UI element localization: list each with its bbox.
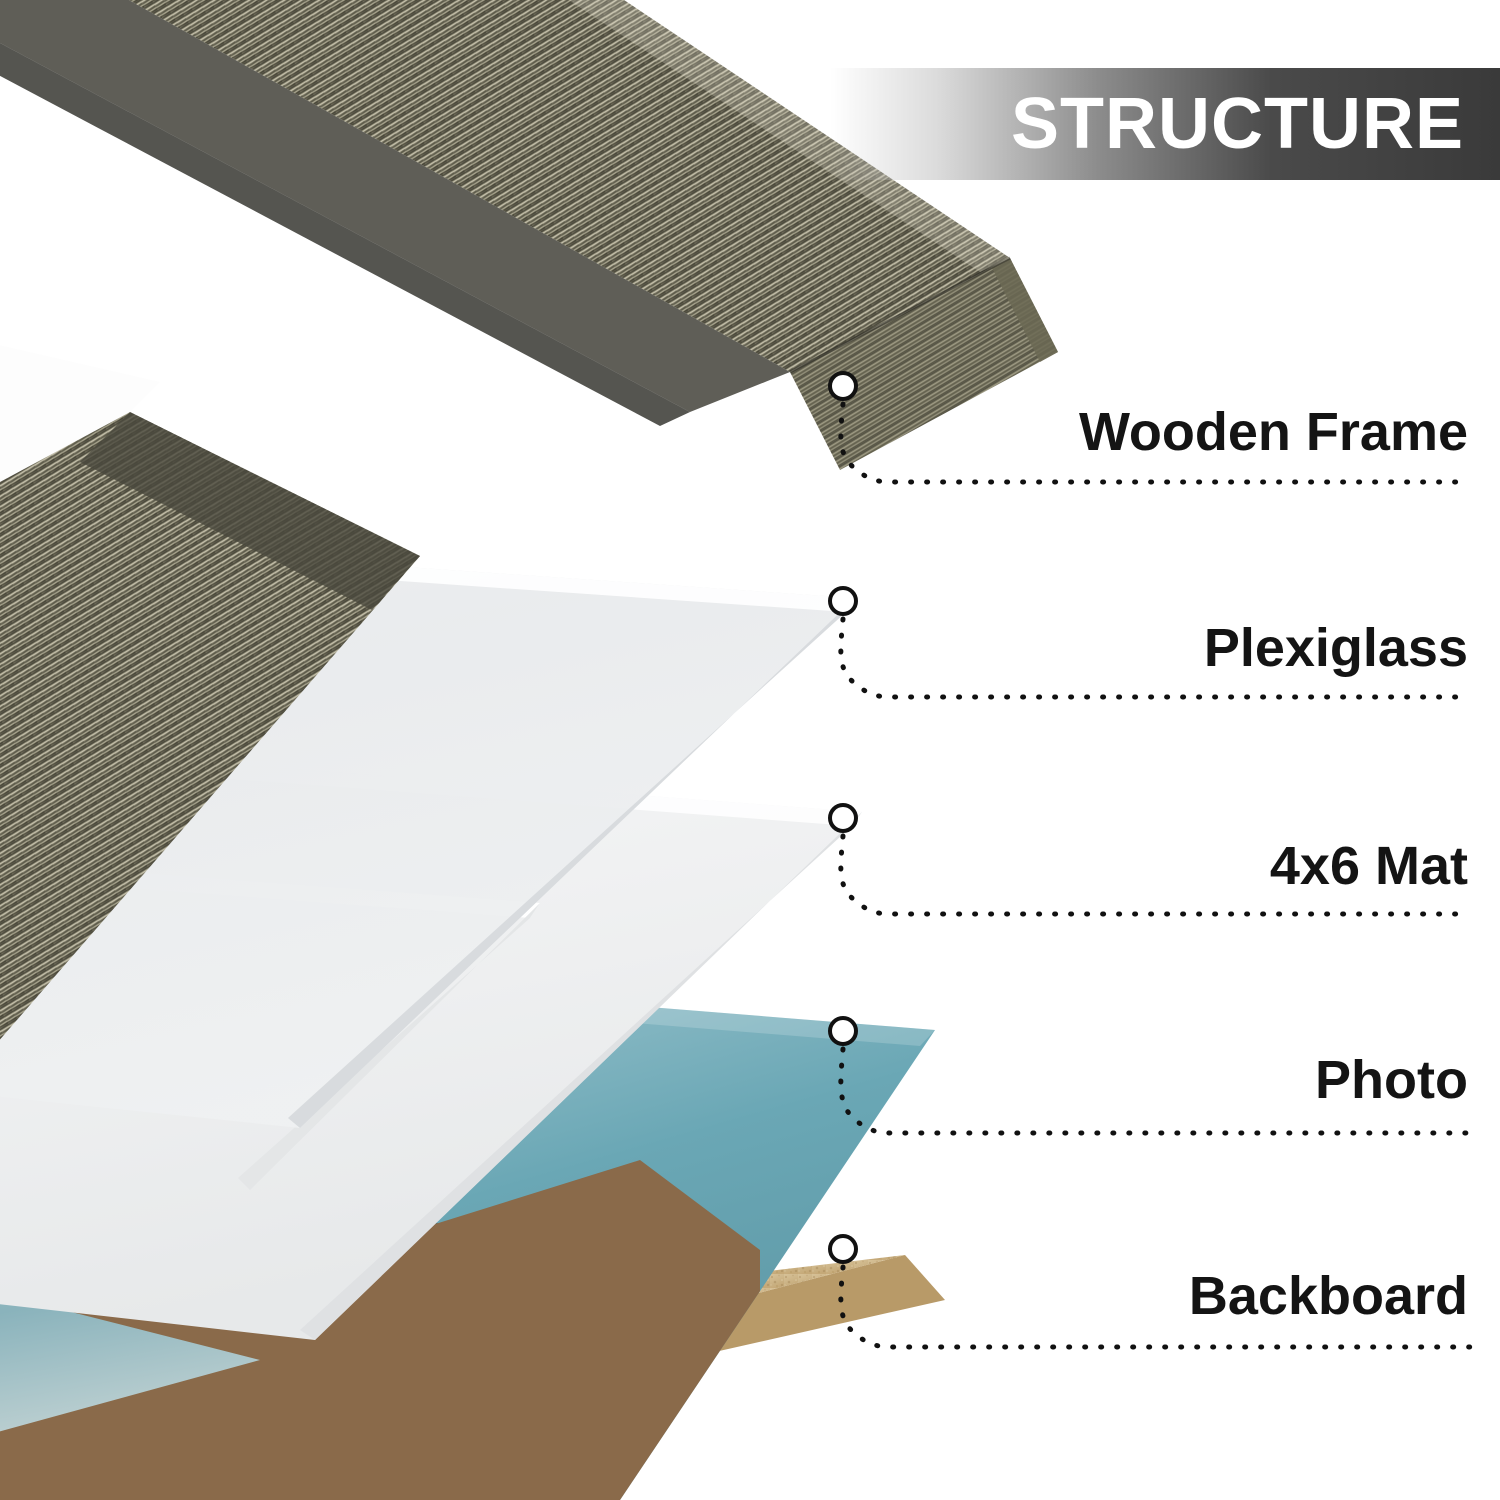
marker-plexiglass[interactable]	[830, 588, 856, 614]
callout-text-mat: 4x6 Mat	[868, 838, 1468, 895]
callout-text-photo: Photo	[868, 1052, 1468, 1109]
callout-label-mat: 4x6 Mat	[868, 838, 1468, 895]
marker-photo[interactable]	[830, 1018, 856, 1044]
marker-backboard[interactable]	[830, 1236, 856, 1262]
callout-label-photo: Photo	[868, 1052, 1468, 1109]
banner-title: STRUCTURE	[1011, 88, 1500, 160]
callout-text-wooden-frame: Wooden Frame	[868, 404, 1468, 461]
callout-label-plexiglass: Plexiglass	[868, 620, 1468, 677]
callout-label-backboard: Backboard	[868, 1268, 1468, 1325]
marker-mat[interactable]	[830, 805, 856, 831]
infographic-canvas: STRUCTURE Wooden Frame Plexiglass 4x6 Ma…	[0, 0, 1500, 1500]
callout-text-plexiglass: Plexiglass	[868, 620, 1468, 677]
structure-banner: STRUCTURE	[830, 68, 1500, 180]
callout-label-wooden-frame: Wooden Frame	[868, 404, 1468, 461]
callout-text-backboard: Backboard	[868, 1268, 1468, 1325]
marker-wooden-frame[interactable]	[830, 373, 856, 399]
